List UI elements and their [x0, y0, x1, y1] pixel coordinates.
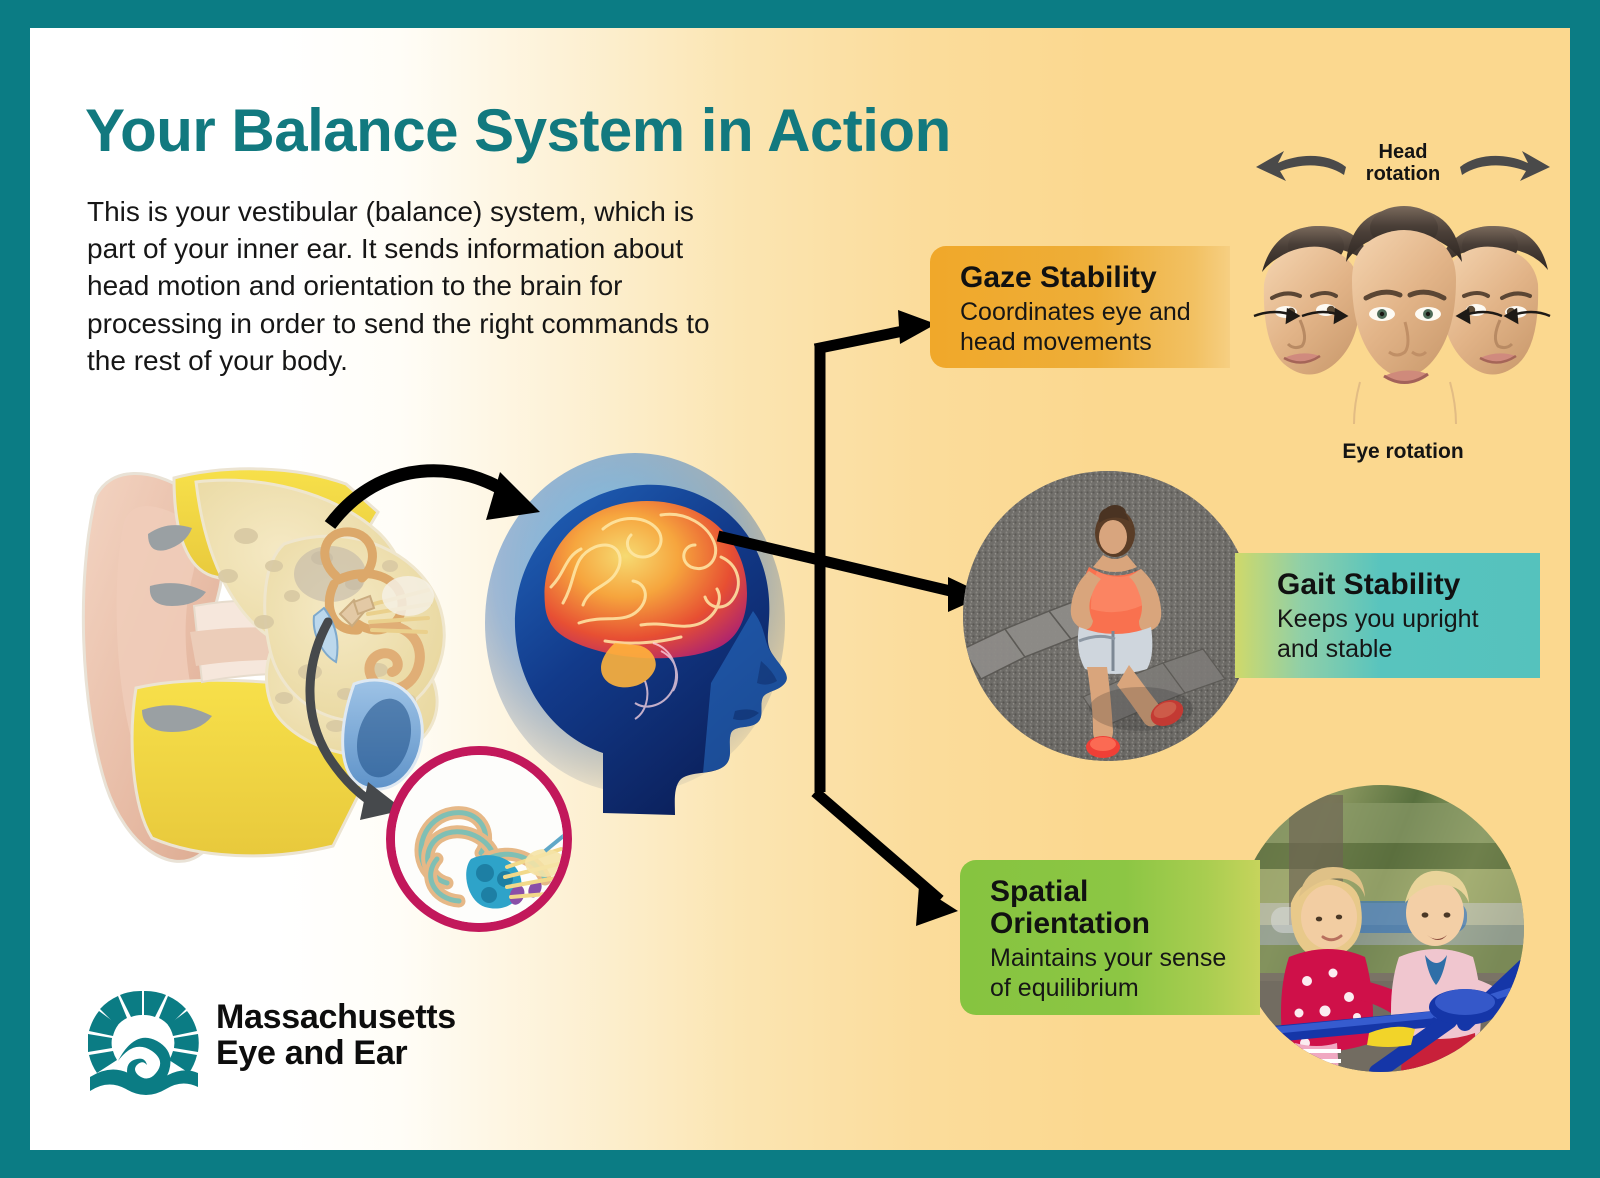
poster-canvas: Your Balance System in Action This is yo… [30, 28, 1570, 1150]
head-rotation-label: Head rotation [1248, 141, 1558, 186]
logo-massachusetts-eye-and-ear: Massachusetts Eye and Ear [88, 983, 508, 1093]
callout-gait-description: Keeps you upright and stable [1277, 604, 1518, 664]
vestibular-inset-circle [386, 746, 572, 932]
callout-spatial-heading: Spatial Orientation [990, 876, 1238, 940]
head-rotation-label-group: Head rotation [1248, 141, 1558, 193]
eye-rotation-label: Eye rotation [1248, 440, 1558, 464]
logo-line2: Eye and Ear [216, 1034, 407, 1072]
mee-sunburst-wave-icon [88, 989, 200, 1097]
poster-frame: Your Balance System in Action This is yo… [0, 0, 1600, 1178]
logo-line1: Massachusetts [216, 998, 456, 1036]
callout-spatial-orientation[interactable]: Spatial Orientation Maintains your sense… [960, 860, 1260, 1015]
callout-gait-stability[interactable]: Gait Stability Keeps you upright and sta… [1235, 553, 1540, 678]
callout-gaze-heading: Gaze Stability [960, 262, 1208, 294]
callout-gaze-description: Coordinates eye and head movements [960, 297, 1208, 357]
head-rotation-line2: rotation [1366, 163, 1440, 185]
intro-paragraph: This is your vestibular (balance) system… [87, 193, 747, 379]
photo-runner [963, 471, 1253, 761]
callout-gaze-stability[interactable]: Gaze Stability Coordinates eye and head … [930, 246, 1230, 368]
logo-wordmark: Massachusetts Eye and Ear [216, 999, 456, 1071]
page-title: Your Balance System in Action [85, 96, 951, 165]
callout-gait-heading: Gait Stability [1277, 569, 1518, 601]
illustration-head-rotation-faces [1248, 206, 1558, 438]
callout-spatial-description: Maintains your sense of equilibrium [990, 943, 1238, 1003]
photo-children-playground [1237, 785, 1524, 1072]
head-rotation-line1: Head [1379, 141, 1428, 163]
